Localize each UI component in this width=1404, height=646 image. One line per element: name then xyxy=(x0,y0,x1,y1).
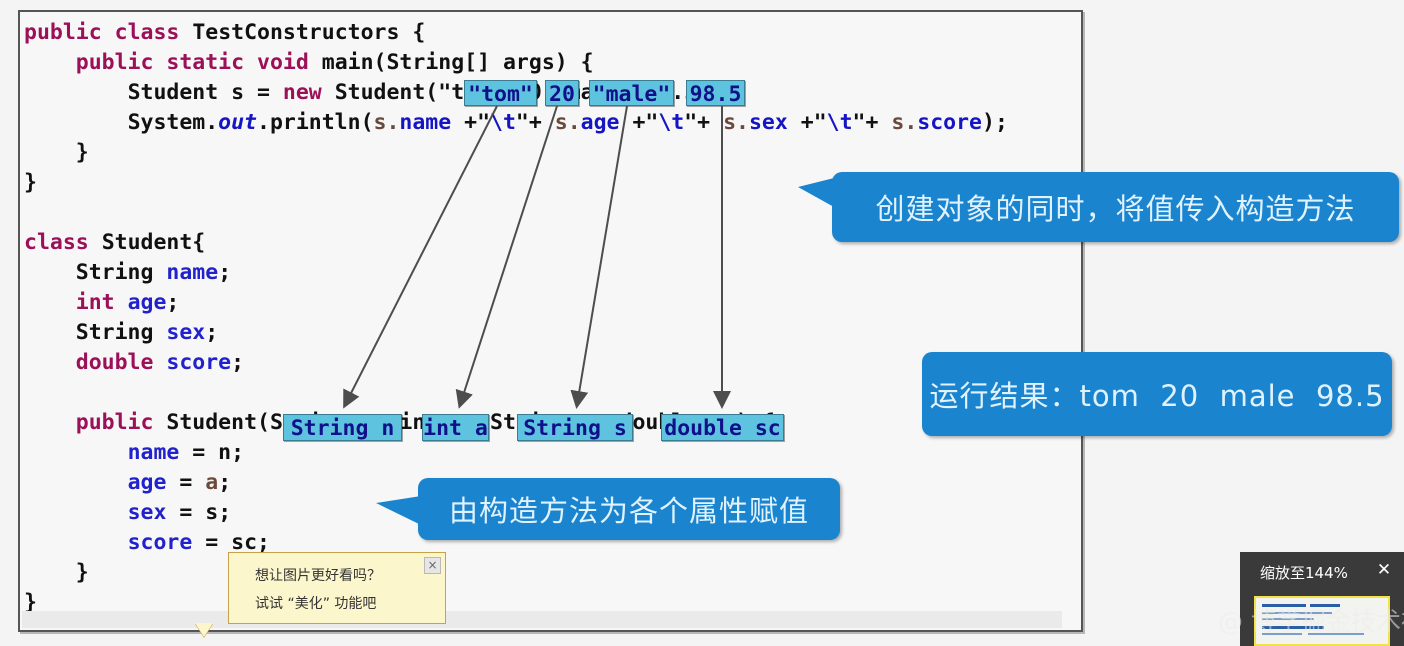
highlight-arg-tom[interactable]: "tom" xyxy=(464,80,537,106)
screenshot-canvas: public class TestConstructors { public s… xyxy=(0,0,1404,646)
zoom-level-label: 缩放至144% xyxy=(1260,562,1348,583)
callout-result-text: 运行结果：tom 20 male 98.5 xyxy=(929,373,1384,415)
callout-run-result: 运行结果：tom 20 male 98.5 xyxy=(922,352,1392,436)
callout-constructor-assign: 由构造方法为各个属性赋值 xyxy=(418,478,840,540)
beautify-tooltip[interactable]: 想让图片更好看吗？ 试试 “美化” 功能吧 × xyxy=(228,552,446,624)
highlight-arg-male[interactable]: "male" xyxy=(589,80,674,106)
highlight-param-int-a[interactable]: int a xyxy=(422,414,489,441)
callout-create-text: 创建对象的同时，将值传入构造方法 xyxy=(875,186,1355,228)
beautify-tooltip-line-1: 想让图片更好看吗？ xyxy=(255,565,381,585)
beautify-tooltip-pointer-icon xyxy=(195,623,213,637)
horizontal-scrollbar-track[interactable] xyxy=(22,611,1062,628)
beautify-tooltip-line-2: 试试 “美化” 功能吧 xyxy=(255,593,376,613)
close-icon[interactable]: ✕ xyxy=(1374,560,1394,580)
highlight-arg-score[interactable]: 98.5 xyxy=(686,80,745,106)
callout-assign-text: 由构造方法为各个属性赋值 xyxy=(449,488,809,530)
callout-create-object: 创建对象的同时，将值传入构造方法 xyxy=(832,172,1399,242)
highlight-param-double-sc[interactable]: double sc xyxy=(661,414,784,441)
close-icon[interactable]: × xyxy=(424,557,441,574)
highlight-arg-age[interactable]: 20 xyxy=(545,80,579,106)
highlight-param-string-n[interactable]: String n xyxy=(283,414,402,441)
callout-tail-icon xyxy=(376,496,421,525)
callout-tail-icon xyxy=(798,178,834,207)
highlight-param-string-s[interactable]: String s xyxy=(517,414,633,441)
watermark-text: @ 博学掘金技术社区 xyxy=(1218,604,1404,640)
